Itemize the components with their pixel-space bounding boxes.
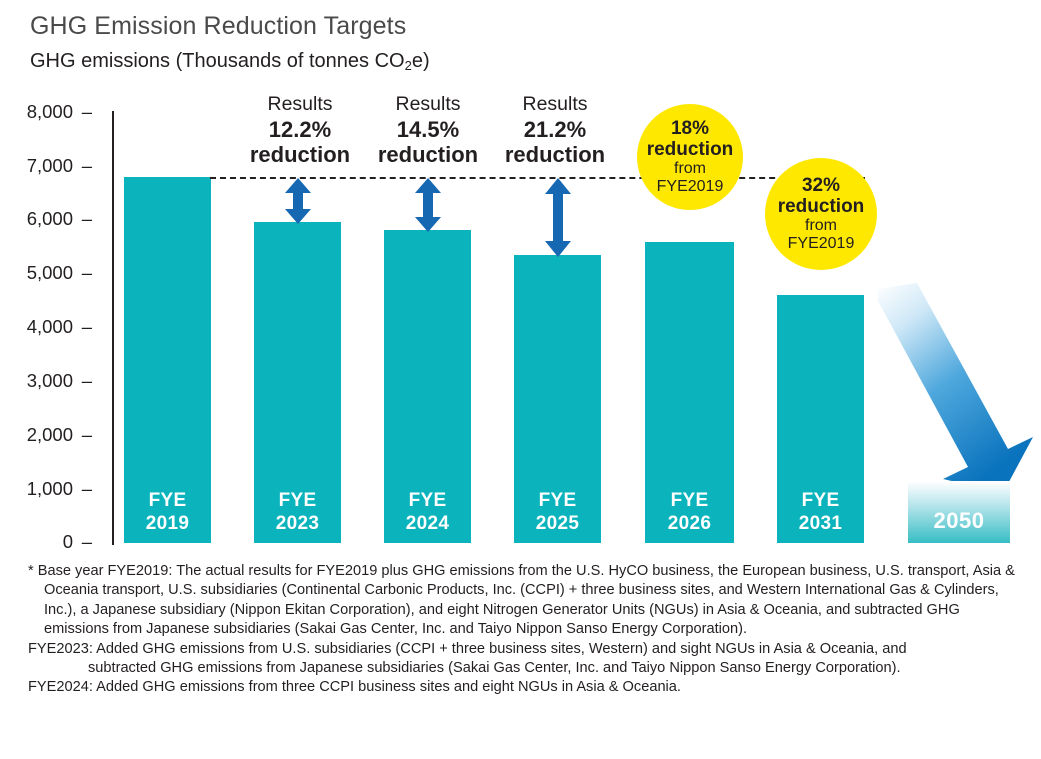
- y-tick-3000: 3,000–: [0, 370, 92, 392]
- footnotes: * Base year FYE2019: The actual results …: [28, 562, 1018, 698]
- callout-from-year: FYE2019: [657, 178, 724, 196]
- y-tick-dash: –: [78, 370, 92, 392]
- y-tick-5000: 5,000–: [0, 262, 92, 284]
- y-tick-dash: –: [78, 101, 92, 123]
- callout-word: reduction: [778, 196, 865, 217]
- callout-from-label: from: [674, 160, 706, 178]
- bar-label-fye2031: FYE2031: [777, 489, 864, 535]
- future-year-box-2050: 2050: [908, 481, 1010, 543]
- footnote-fye2023-tail: subtracted GHG emissions from Japanese s…: [28, 659, 1018, 678]
- y-tick-8000: 8,000–: [0, 101, 92, 123]
- bar-fye2026[interactable]: FYE2026: [645, 242, 734, 543]
- carbon-neutrality-arrow: [870, 283, 1040, 493]
- bar-fye2024[interactable]: FYE2024: [384, 230, 471, 543]
- future-year-label: 2050: [908, 508, 1010, 534]
- y-tick-dash: –: [78, 208, 92, 230]
- y-tick-dash: –: [78, 155, 92, 177]
- y-tick-1000: 1,000–: [0, 478, 92, 500]
- y-tick-7000: 7,000–: [0, 155, 92, 177]
- callout-fye2031: 32% reduction from FYE2019: [765, 158, 877, 270]
- callout-percent: 32%: [802, 175, 840, 196]
- results-label: Results: [480, 92, 630, 117]
- footnote-fye2024: FYE2024: Added GHG emissions from three …: [28, 678, 1018, 697]
- bar-label-fye2023: FYE2023: [254, 489, 341, 535]
- y-tick-0: 0–: [0, 531, 92, 553]
- bar-label-fye2025: FYE2025: [514, 489, 601, 535]
- bar-fye2025[interactable]: FYE2025: [514, 255, 601, 543]
- y-tick-dash: –: [78, 424, 92, 446]
- results-annotation-fye2025: Results 21.2% reduction: [480, 92, 630, 167]
- callout-word: reduction: [647, 139, 734, 160]
- footnote-fye2023-head: FYE2023: Added GHG emissions from U.S. s…: [28, 641, 907, 657]
- callout-from-year: FYE2019: [788, 235, 855, 253]
- y-tick-4000: 4,000–: [0, 316, 92, 338]
- bar-fye2031[interactable]: FYE2031: [777, 295, 864, 543]
- y-tick-2000: 2,000–: [0, 424, 92, 446]
- double-arrow-fye2023: [281, 178, 315, 224]
- results-word: reduction: [480, 142, 630, 167]
- chart-plot-area: 8,000– 7,000– 6,000– 5,000– 4,000– 3,000…: [0, 0, 1041, 560]
- bar-fye2019[interactable]: FYE2019: [124, 177, 211, 543]
- footnote-base-year: * Base year FYE2019: The actual results …: [28, 562, 1018, 640]
- callout-percent: 18%: [671, 118, 709, 139]
- y-tick-dash: –: [78, 478, 92, 500]
- bar-label-fye2024: FYE2024: [384, 489, 471, 535]
- bar-label-fye2026: FYE2026: [645, 489, 734, 535]
- bar-label-fye2019: FYE2019: [124, 489, 211, 535]
- callout-from-label: from: [805, 217, 837, 235]
- y-tick-dash: –: [78, 316, 92, 338]
- double-arrow-fye2024: [411, 178, 445, 232]
- double-arrow-fye2025: [541, 178, 575, 257]
- y-axis-line: [112, 111, 114, 545]
- footnote-fye2023: FYE2023: Added GHG emissions from U.S. s…: [28, 640, 1018, 679]
- results-percent: 21.2%: [480, 117, 630, 142]
- y-tick-6000: 6,000–: [0, 208, 92, 230]
- bar-fye2023[interactable]: FYE2023: [254, 222, 341, 543]
- y-tick-dash: –: [78, 531, 92, 553]
- callout-fye2026: 18% reduction from FYE2019: [637, 104, 743, 210]
- y-tick-dash: –: [78, 262, 92, 284]
